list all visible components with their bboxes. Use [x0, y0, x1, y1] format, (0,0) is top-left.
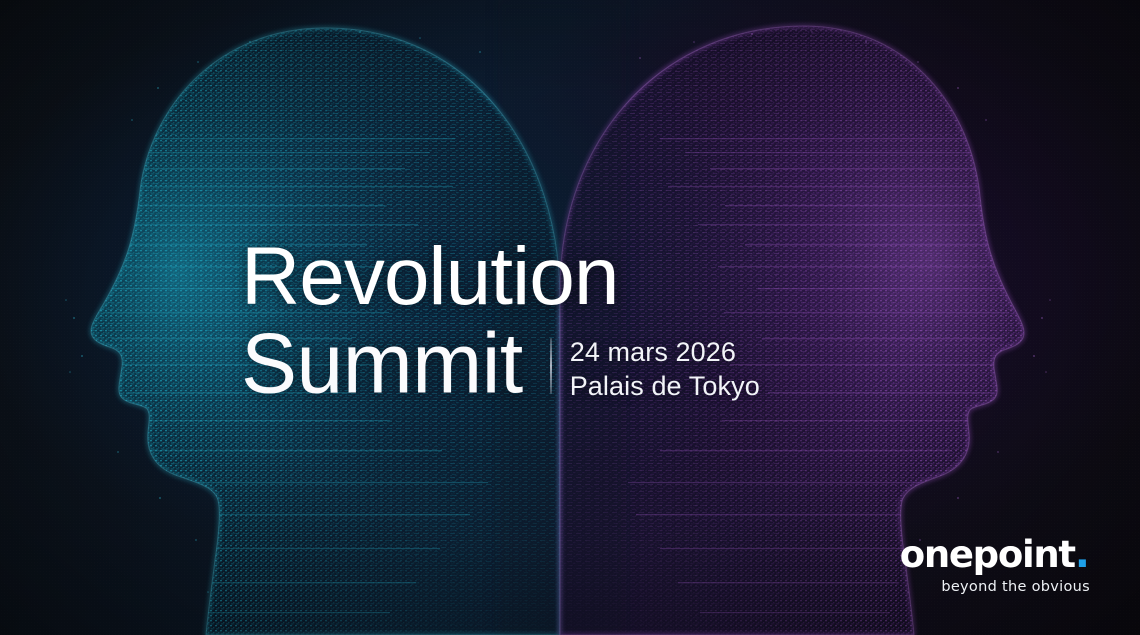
poster-canvas: Revolution Summit 24 mars 2026 Palais de… — [0, 0, 1140, 635]
title-line-revolution: Revolution — [241, 234, 760, 320]
logo-dot-icon: . — [1075, 531, 1090, 577]
vertical-divider — [550, 338, 552, 394]
summit-and-event-row: Summit 24 mars 2026 Palais de Tokyo — [241, 316, 760, 408]
title-block: Revolution Summit 24 mars 2026 Palais de… — [241, 234, 760, 408]
logo-tagline: beyond the obvious — [900, 577, 1090, 597]
event-date: 24 mars 2026 — [570, 335, 760, 369]
event-venue: Palais de Tokyo — [570, 369, 760, 403]
event-details: 24 mars 2026 Palais de Tokyo — [570, 335, 760, 403]
title-line-summit: Summit — [241, 316, 523, 410]
onepoint-logo: onepoint. beyond the obvious — [900, 534, 1090, 597]
logo-word-text: onepoint — [900, 533, 1075, 576]
logo-wordmark: onepoint. — [900, 534, 1090, 575]
